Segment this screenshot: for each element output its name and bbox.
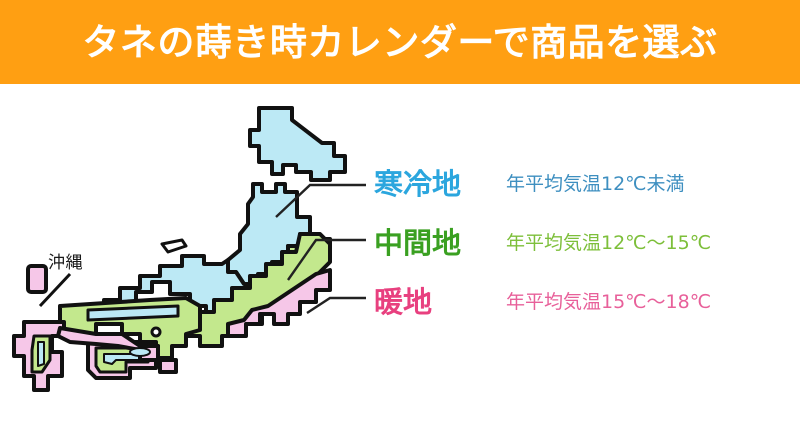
legend-row-mid: 中間地 年平均気温12℃〜15℃ xyxy=(374,214,794,273)
okinawa-label: 沖縄 xyxy=(48,248,83,273)
legend-row-cold: 寒冷地 年平均気温12℃未満 xyxy=(374,155,794,214)
page-title: タネの蒔き時カレンダーで商品を選ぶ xyxy=(0,0,800,84)
map-island-awaji xyxy=(130,348,150,356)
map-region-okinawa xyxy=(28,266,46,292)
map-region-hokkaido xyxy=(250,108,345,180)
legend-term-cold: 寒冷地 xyxy=(374,170,506,199)
map-island-dot xyxy=(152,328,160,336)
legend-description-cold: 年平均気温12℃未満 xyxy=(506,175,685,194)
map-region-west-honshu-inner xyxy=(88,306,178,320)
legend-description-warm: 年平均気温15℃〜18℃ xyxy=(506,293,711,312)
map-region-kyushu-inner-blue xyxy=(38,342,44,366)
legend-row-warm: 暖地 年平均気温15℃〜18℃ xyxy=(374,273,794,332)
legend-description-mid: 年平均気温12℃〜15℃ xyxy=(506,234,711,253)
legend-term-mid: 中間地 xyxy=(374,229,506,258)
legend-term-warm: 暖地 xyxy=(374,288,506,317)
map-island-sado xyxy=(162,240,186,252)
climate-zone-legend: 寒冷地 年平均気温12℃未満 中間地 年平均気温12℃〜15℃ 暖地 年平均気温… xyxy=(374,155,794,332)
infographic-root: タネの蒔き時カレンダーで商品を選ぶ xyxy=(0,0,800,431)
